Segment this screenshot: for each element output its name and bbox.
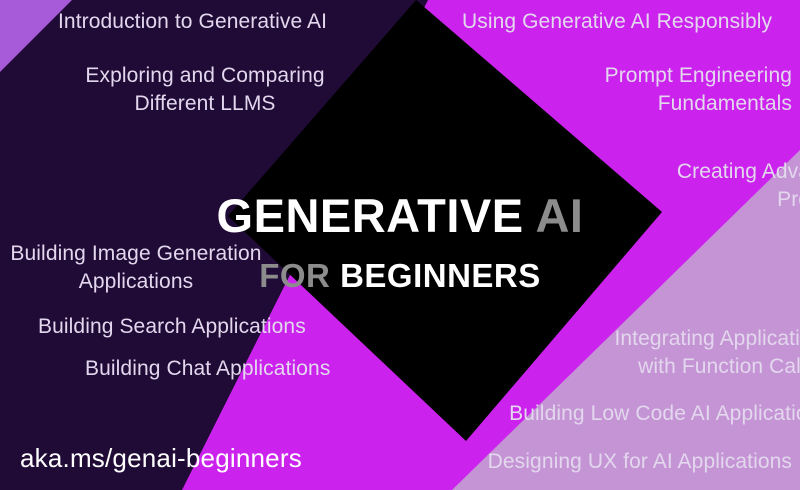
topic-designing-ux-for-ai-applications: Designing UX for AI Applications xyxy=(488,448,792,476)
generative-ai-banner: Introduction to Generative AI Exploring … xyxy=(0,0,800,490)
topic-line-1: Integrating Applications xyxy=(514,325,800,353)
topic-line-1: Prompt Engineering xyxy=(462,62,792,90)
topic-line-2: Different LLMS xyxy=(60,90,350,118)
topic-building-low-code-ai-applications: Building Low Code AI Applications xyxy=(509,400,800,428)
topic-building-image-generation-applications: Building Image Generation Applications xyxy=(0,240,276,296)
topic-line-1: Creating Advanced xyxy=(526,158,800,186)
topic-line-1: Exploring and Comparing xyxy=(60,62,350,90)
topic-line-2: Applications xyxy=(0,268,276,296)
topic-using-generative-ai-responsibly: Using Generative AI Responsibly xyxy=(462,8,772,36)
topic-line-2: Prompts xyxy=(526,186,800,214)
topic-prompt-engineering-fundamentals: Prompt Engineering Fundamentals xyxy=(462,62,792,118)
topic-building-chat-applications: Building Chat Applications xyxy=(85,355,330,383)
topic-building-search-applications: Building Search Applications xyxy=(38,313,306,341)
topic-line-1: Building Image Generation xyxy=(0,240,276,268)
topic-introduction-to-generative-ai: Introduction to Generative AI xyxy=(58,8,327,36)
topic-line-2: Fundamentals xyxy=(462,90,792,118)
topic-integrating-applications-with-function-calling: Integrating Applications with Function C… xyxy=(514,325,800,381)
topic-creating-advanced-prompts: Creating Advanced Prompts xyxy=(526,158,800,214)
topic-line-2: with Function Calling xyxy=(514,353,800,381)
topic-labels: Introduction to Generative AI Exploring … xyxy=(0,0,800,490)
aka-ms-short-link[interactable]: aka.ms/genai-beginners xyxy=(20,443,302,474)
topic-exploring-and-comparing-llms: Exploring and Comparing Different LLMS xyxy=(60,62,350,118)
